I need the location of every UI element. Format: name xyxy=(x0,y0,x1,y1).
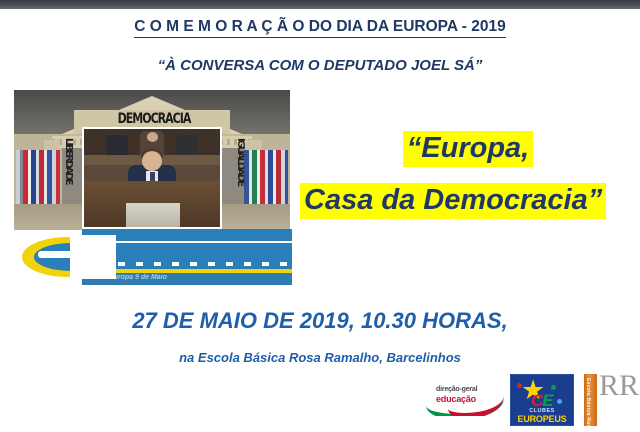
photo-pediment-word: DEMOCRACIA xyxy=(104,110,204,126)
inset-seat-left xyxy=(106,135,128,155)
event-theme-line-1: “Europa, xyxy=(403,131,533,167)
event-theme-title: “Europa, Casa da Democracia” xyxy=(296,131,640,219)
event-theme-line-2: Casa da Democracia” xyxy=(300,183,606,219)
poster-page: C O M E M O R A Ç Ã O DO DIA DA EUROPA -… xyxy=(0,0,640,432)
rosa-ramalho-vertical-text: Escola Básica Rosa Ramalho xyxy=(585,378,591,432)
clubes-blue-dot-icon xyxy=(557,399,562,404)
inset-person-background xyxy=(147,132,158,142)
parliament-photo: DEMOCRACIA LIBERDADE IGUALDADE xyxy=(14,90,290,230)
clubes-label-bottom: EUROPEUS xyxy=(511,414,573,424)
top-gray-bar xyxy=(0,0,640,9)
event-datetime: 27 DE MAIO DE 2019, 10.30 HORAS, xyxy=(0,308,640,334)
page-title: C O M E M O R A Ç Ã O DO DIA DA EUROPA -… xyxy=(0,18,640,38)
rosa-ramalho-logo: Escola Básica Rosa Ramalho RR xyxy=(582,372,636,428)
banner-tagline: Dia da Europa 9 de Maio xyxy=(86,274,286,281)
europe-day-banner: Dia da Europa 9 de Maio xyxy=(14,229,292,285)
banner-e-logo-bar xyxy=(38,251,104,258)
footer-logos: direção-geral educação ★ CE CLUBES EUROP… xyxy=(424,372,636,428)
dge-logo-line1: direção-geral xyxy=(436,386,477,393)
inset-speaker-head xyxy=(142,151,162,171)
clubes-europeus-logo: ★ CE CLUBES EUROPEUS xyxy=(510,374,574,426)
event-theme-line-2-row: Casa da Democracia” xyxy=(296,183,640,219)
photo-flags-right xyxy=(244,150,288,208)
event-theme-line-1-row: “Europa, xyxy=(296,131,640,167)
rosa-ramalho-initials: RR xyxy=(599,374,639,399)
page-title-text: C O M E M O R A Ç Ã O DO DIA DA EUROPA -… xyxy=(134,18,505,38)
page-subtitle: “À CONVERSA COM O DEPUTADO JOEL SÁ” xyxy=(0,57,640,74)
event-location: na Escola Básica Rosa Ramalho, Barcelinh… xyxy=(0,350,640,365)
inset-podium xyxy=(126,203,180,227)
clubes-green-dot-icon xyxy=(551,385,556,390)
dge-logo: direção-geral educação xyxy=(424,380,506,416)
photo-column-word-left: LIBERDADE xyxy=(63,138,74,183)
dge-logo-line2: educação xyxy=(436,394,476,404)
inset-seat-right xyxy=(176,135,198,155)
deputy-inset-photo xyxy=(82,127,222,229)
photo-flags-left xyxy=(16,150,60,208)
